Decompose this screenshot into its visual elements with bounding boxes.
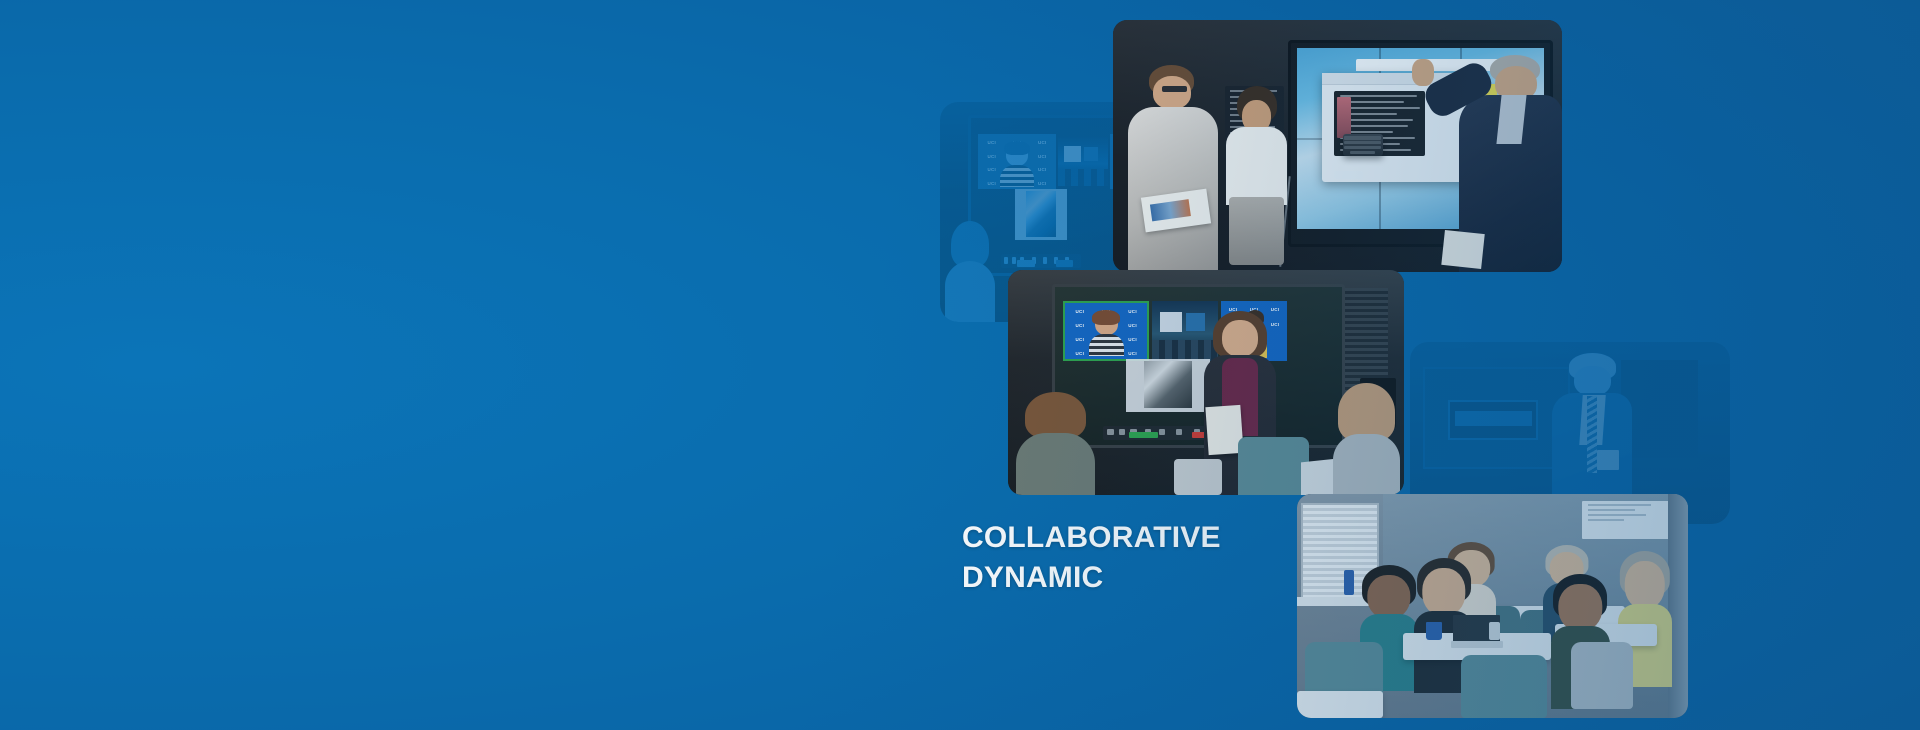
person-presenting-right <box>1450 50 1562 272</box>
headline-line-2: DYNAMIC <box>962 561 1103 594</box>
hero-banner: UCIUCIUCI UCIUCIUCI UCIUCIUCI UCIUCIUCI … <box>0 0 1920 730</box>
person-standing-center <box>1221 86 1293 272</box>
mute-indicator[interactable] <box>1129 432 1158 438</box>
audience-member-right <box>1333 383 1400 496</box>
person-standing-left <box>1126 65 1220 272</box>
shared-image <box>1144 361 1193 408</box>
hybrid-presentation-photo: UCIUCIUCI UCIUCIUCI UCIUCIUCI UCIUCIUCI … <box>1008 270 1404 495</box>
coffee-cup <box>1426 622 1442 640</box>
participant-tile-1: UCIUCIUCI UCIUCIUCI UCIUCIUCI UCIUCIUCI <box>1063 301 1149 361</box>
page-title: COLLABORATIVEDYNAMIC <box>962 518 1221 598</box>
conference-screen: UCIUCIUCI UCIUCIUCI UCIUCIUCI UCIUCIUCI … <box>1052 284 1345 448</box>
headline-line-1: COLLABORATIVE <box>962 521 1221 554</box>
classroom-workshop-photo <box>1297 494 1688 718</box>
audience-member-left <box>1016 392 1095 496</box>
projection-screen <box>1582 501 1672 539</box>
display-wall-discussion-photo <box>1113 20 1562 272</box>
